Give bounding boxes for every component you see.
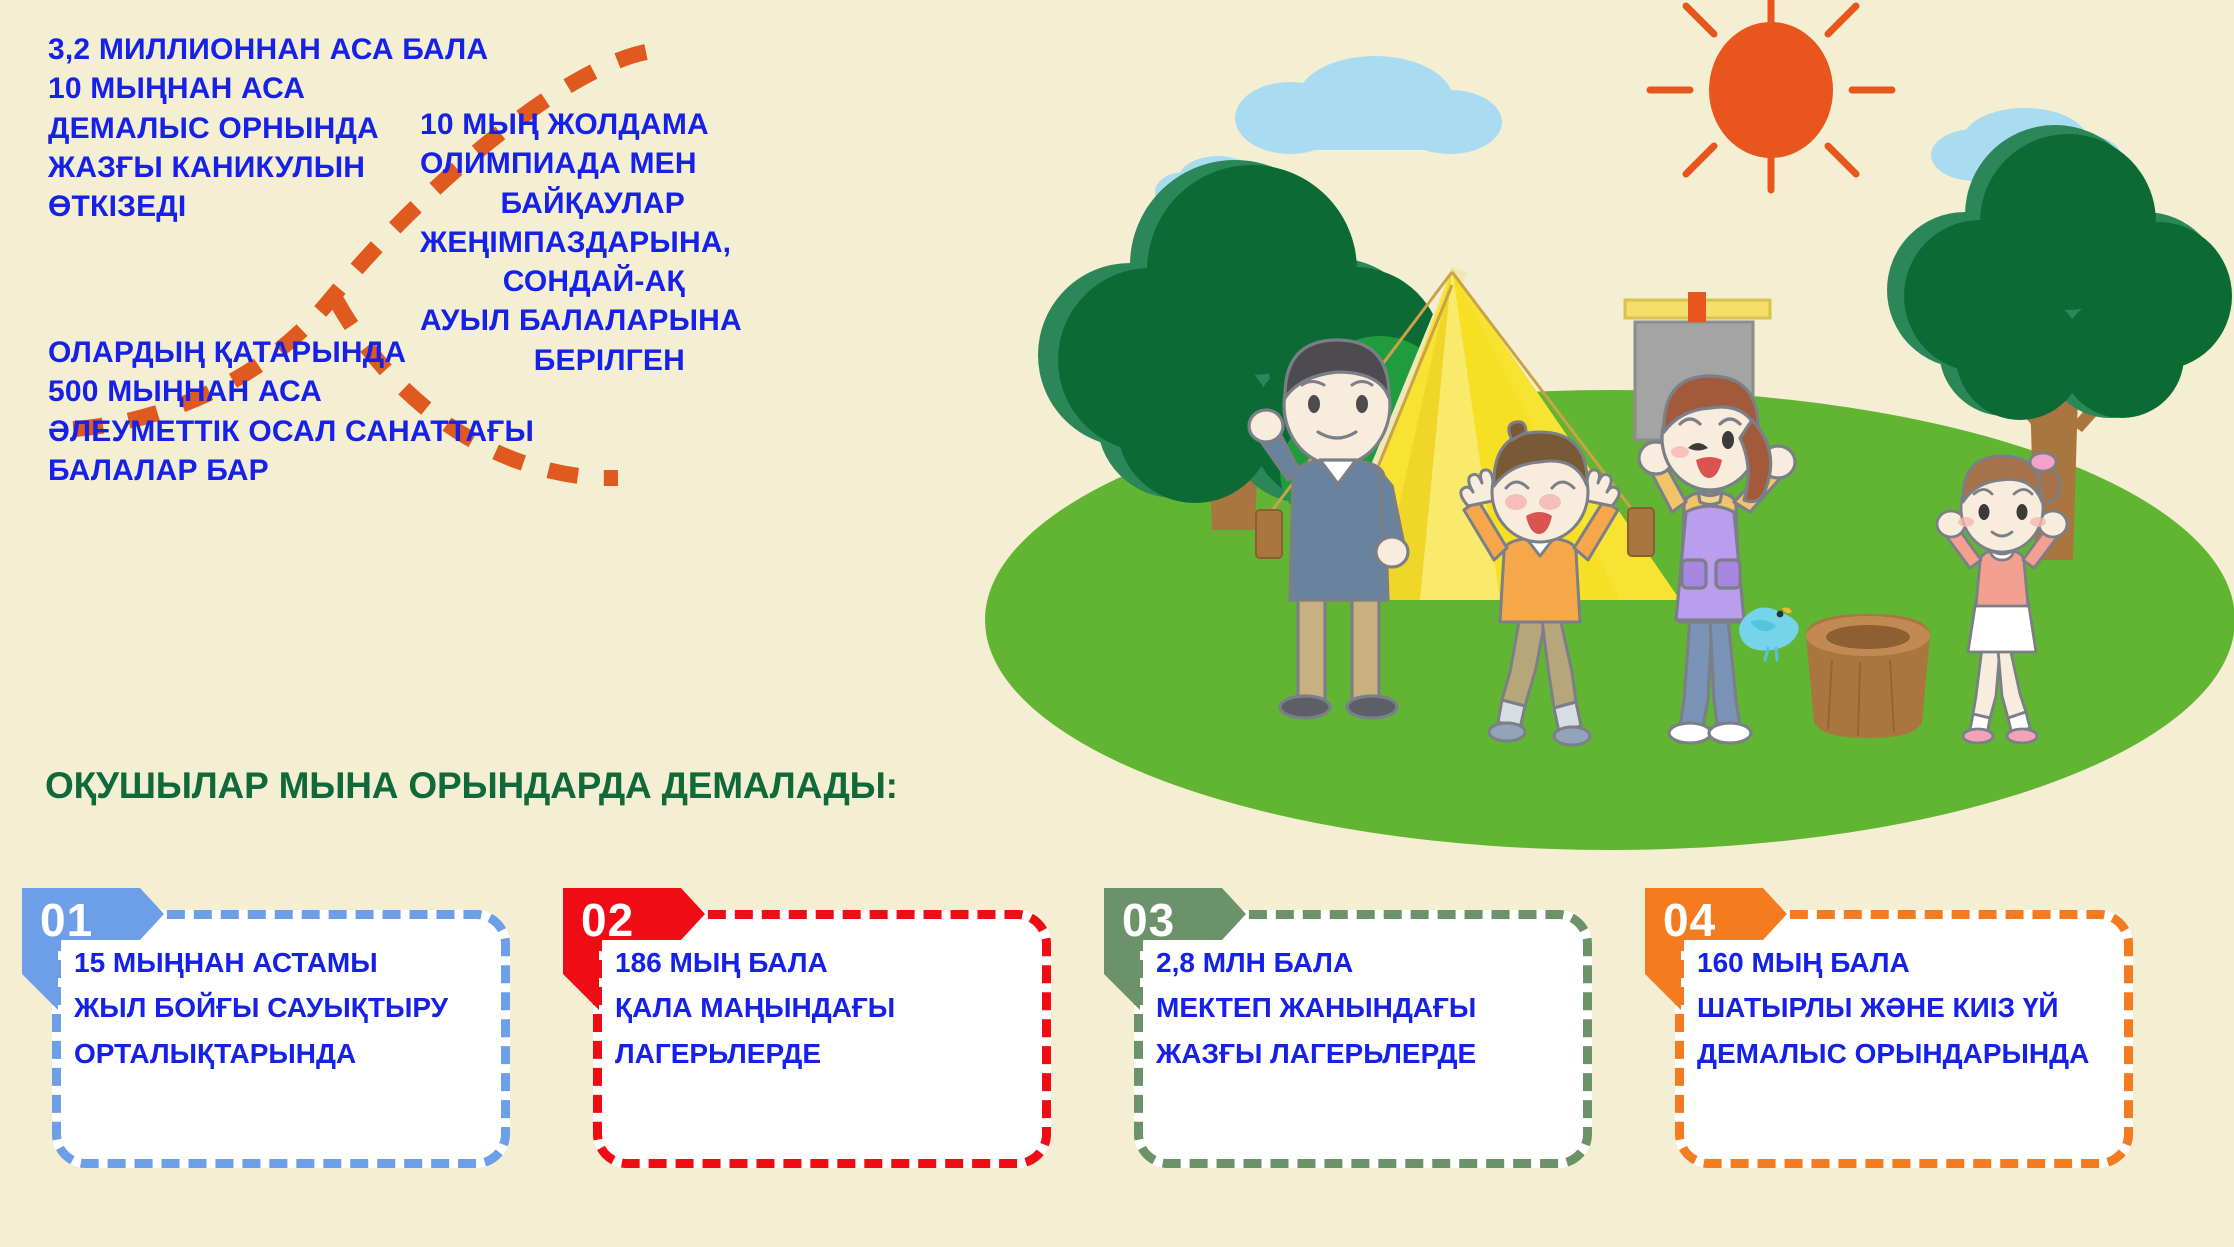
stat-block-children-vacation: 3,2 МИЛЛИОННАН АСА БАЛА 10 МЫҢНАН АСА ДЕ…: [48, 30, 468, 226]
place-card-01[interactable]: 01 15 МЫҢНАН АСТАМЫ ЖЫЛ БОЙҒЫ САУЫҚТЫРУ …: [22, 888, 540, 1188]
stat-3-line-7: БЕРІЛГЕН: [420, 341, 685, 380]
card-02-line-2: ҚАЛА МАҢЫНДАҒЫ: [615, 985, 1063, 1030]
stat-3-line-4: ЖЕҢІМПАЗДАРЫНА,: [420, 223, 685, 262]
stat-1-line-4: ЖАЗҒЫ КАНИКУЛЫН: [48, 148, 468, 187]
stat-1-line-2: 10 МЫҢНАН АСА: [48, 69, 468, 108]
card-01-text: 15 МЫҢНАН АСТАМЫ ЖЫЛ БОЙҒЫ САУЫҚТЫРУ ОРТ…: [74, 940, 522, 1076]
card-04-line-3: ДЕМАЛЫС ОРЫНДАРЫНДА: [1697, 1031, 2145, 1076]
stat-3-line-2: ОЛИМПИАДА МЕН: [420, 144, 685, 183]
card-03-number: 03: [1122, 893, 1175, 947]
card-01-number: 01: [40, 893, 93, 947]
cloud-icon-left: [1235, 56, 1502, 154]
card-02-line-1: 186 МЫҢ БАЛА: [615, 940, 1063, 985]
infographic-canvas: 3,2 МИЛЛИОННАН АСА БАЛА 10 МЫҢНАН АСА ДЕ…: [0, 0, 2234, 1247]
place-card-04[interactable]: 04 160 МЫҢ БАЛА ШАТЫРЛЫ ЖӘНЕ КИІЗ ҮЙ ДЕМ…: [1645, 888, 2163, 1188]
card-01-line-3: ОРТАЛЫҚТАРЫНДА: [74, 1031, 522, 1076]
stat-3-line-3: БАЙҚАУЛАР: [420, 184, 685, 223]
card-04-line-2: ШАТЫРЛЫ ЖӘНЕ КИІЗ ҮЙ: [1697, 985, 2145, 1030]
card-01-line-1: 15 МЫҢНАН АСТАМЫ: [74, 940, 522, 985]
card-04-line-1: 160 МЫҢ БАЛА: [1697, 940, 2145, 985]
stat-block-vouchers: 10 МЫҢ ЖОЛДАМА ОЛИМПИАДА МЕН БАЙҚАУЛАР Ж…: [420, 105, 685, 380]
stat-2-line-3: ӘЛЕУМЕТТІК ОСАЛ САНАТТАҒЫ: [48, 412, 518, 451]
stat-2-line-4: БАЛАЛАР БАР: [48, 451, 518, 490]
card-03-line-3: ЖАЗҒЫ ЛАГЕРЬЛЕРДЕ: [1156, 1031, 1604, 1076]
card-03-text: 2,8 МЛН БАЛА МЕКТЕП ЖАНЫНДАҒЫ ЖАЗҒЫ ЛАГЕ…: [1156, 940, 1604, 1076]
sun-icon: [1650, 0, 1892, 190]
card-04-text: 160 МЫҢ БАЛА ШАТЫРЛЫ ЖӘНЕ КИІЗ ҮЙ ДЕМАЛЫ…: [1697, 940, 2145, 1076]
camping-illustration: [980, 0, 2234, 880]
card-02-line-3: ЛАГЕРЬЛЕРДЕ: [615, 1031, 1063, 1076]
stat-3-line-5: СОНДАЙ-АҚ: [420, 262, 685, 301]
place-card-03[interactable]: 03 2,8 МЛН БАЛА МЕКТЕП ЖАНЫНДАҒЫ ЖАЗҒЫ Л…: [1104, 888, 1622, 1188]
place-card-02[interactable]: 02 186 МЫҢ БАЛА ҚАЛА МАҢЫНДАҒЫ ЛАГЕРЬЛЕР…: [563, 888, 1081, 1188]
card-02-text: 186 МЫҢ БАЛА ҚАЛА МАҢЫНДАҒЫ ЛАГЕРЬЛЕРДЕ: [615, 940, 1063, 1076]
tree-stump-icon: [1806, 614, 1930, 738]
card-04-number: 04: [1663, 893, 1716, 947]
card-03-line-2: МЕКТЕП ЖАНЫНДАҒЫ: [1156, 985, 1604, 1030]
stat-1-line-5: ӨТКІЗЕДІ: [48, 187, 468, 226]
stat-3-line-1: 10 МЫҢ ЖОЛДАМА: [420, 105, 685, 144]
section-heading: ОҚУШЫЛАР МЫНА ОРЫНДАРДА ДЕМАЛАДЫ:: [45, 765, 898, 807]
stat-1-line-1: 3,2 МИЛЛИОННАН АСА БАЛА: [48, 30, 468, 69]
card-01-line-2: ЖЫЛ БОЙҒЫ САУЫҚТЫРУ: [74, 985, 522, 1030]
card-02-number: 02: [581, 893, 634, 947]
card-03-line-1: 2,8 МЛН БАЛА: [1156, 940, 1604, 985]
stat-3-line-6: АУЫЛ БАЛАЛАРЫНА: [420, 301, 685, 340]
stat-1-line-3: ДЕМАЛЫС ОРНЫНДА: [48, 109, 468, 148]
